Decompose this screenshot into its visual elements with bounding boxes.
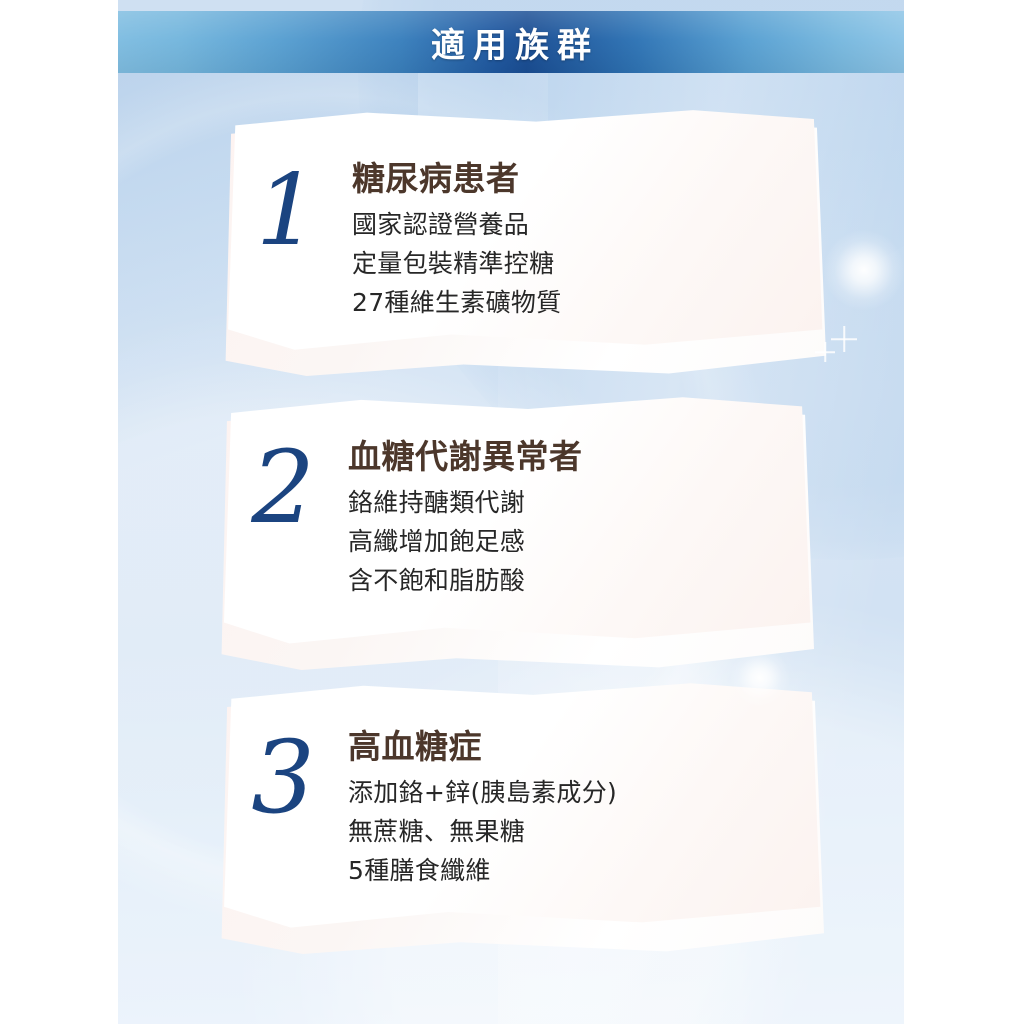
card-feature-item: 鉻維持醣類代謝 — [348, 483, 814, 522]
card-number: 3 — [218, 728, 348, 828]
sparkle-cross-icon — [831, 326, 857, 352]
card-title: 血糖代謝異常者 — [348, 438, 814, 476]
card-title: 糖尿病患者 — [352, 160, 826, 198]
info-card-3: 3 高血糖症 添加鉻+鋅(胰島素成分) 無蔗糖、無果糖 5種膳食纖維 — [218, 678, 824, 938]
card-number: 1 — [222, 160, 352, 260]
card-feature-list: 鉻維持醣類代謝 高纖增加飽足感 含不飽和脂肪酸 — [348, 483, 814, 600]
card-feature-item: 無蔗糖、無果糖 — [348, 812, 824, 851]
info-card-2: 2 血糖代謝異常者 鉻維持醣類代謝 高纖增加飽足感 含不飽和脂肪酸 — [218, 392, 814, 654]
page-title: 適用族群 — [118, 11, 904, 73]
card-text-block: 高血糖症 添加鉻+鋅(胰島素成分) 無蔗糖、無果糖 5種膳食纖維 — [348, 728, 824, 890]
card-feature-item: 定量包裝精準控糖 — [352, 244, 826, 283]
card-feature-item: 27種維生素礦物質 — [352, 283, 826, 322]
card-content: 2 血糖代謝異常者 鉻維持醣類代謝 高纖增加飽足感 含不飽和脂肪酸 — [218, 392, 814, 654]
card-text-block: 糖尿病患者 國家認證營養品 定量包裝精準控糖 27種維生素礦物質 — [352, 160, 826, 322]
sparkle-glow-icon — [824, 230, 904, 310]
artboard: 適用族群 1 糖尿病患者 國家認證營養品 定量包裝精準控糖 27種維生素礦物質 — [118, 0, 904, 1024]
card-title: 高血糖症 — [348, 728, 824, 766]
card-number: 2 — [218, 438, 348, 538]
card-feature-item: 國家認證營養品 — [352, 205, 826, 244]
card-feature-list: 國家認證營養品 定量包裝精準控糖 27種維生素礦物質 — [352, 205, 826, 322]
card-feature-list: 添加鉻+鋅(胰島素成分) 無蔗糖、無果糖 5種膳食纖維 — [348, 773, 824, 890]
header-banner: 適用族群 — [118, 11, 904, 73]
card-feature-item: 含不飽和脂肪酸 — [348, 561, 814, 600]
card-content: 3 高血糖症 添加鉻+鋅(胰島素成分) 無蔗糖、無果糖 5種膳食纖維 — [218, 678, 824, 938]
poster-root: 適用族群 1 糖尿病患者 國家認證營養品 定量包裝精準控糖 27種維生素礦物質 — [0, 0, 1024, 1024]
card-feature-item: 添加鉻+鋅(胰島素成分) — [348, 773, 824, 812]
card-feature-item: 高纖增加飽足感 — [348, 522, 814, 561]
info-card-1: 1 糖尿病患者 國家認證營養品 定量包裝精準控糖 27種維生素礦物質 — [222, 105, 826, 360]
card-content: 1 糖尿病患者 國家認證營養品 定量包裝精準控糖 27種維生素礦物質 — [222, 105, 826, 360]
card-feature-item: 5種膳食纖維 — [348, 851, 824, 890]
card-text-block: 血糖代謝異常者 鉻維持醣類代謝 高纖增加飽足感 含不飽和脂肪酸 — [348, 438, 814, 600]
